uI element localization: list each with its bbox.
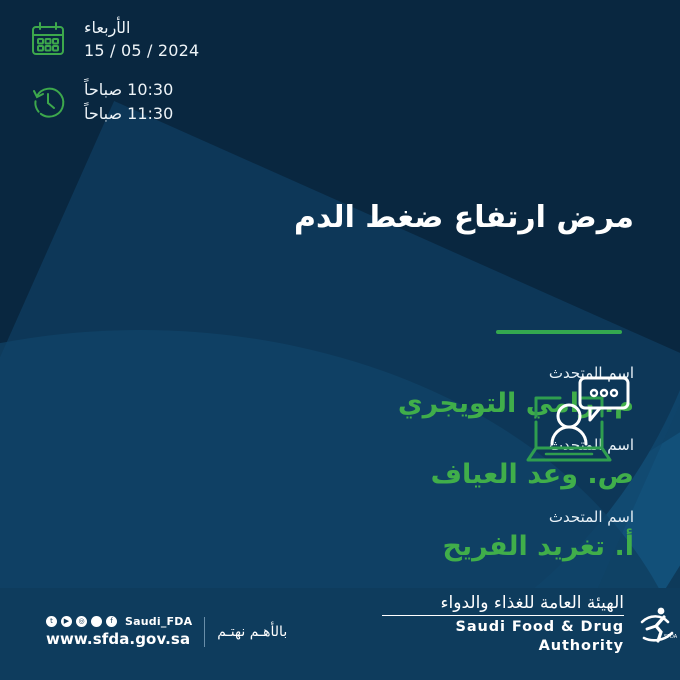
event-time-end: 11:30 صباحاً [84, 102, 173, 125]
event-time-text: 10:30 صباحاً 11:30 صباحاً [84, 78, 173, 124]
sfda-logo-arabic: الهيئة العامة للغذاء والدواء [382, 593, 624, 616]
svg-text:SFDA: SFDA [664, 634, 678, 640]
sfda-logo-text: الهيئة العامة للغذاء والدواء Saudi Food … [382, 593, 624, 656]
event-day-name: الأربعاء [84, 16, 199, 39]
laptop-webinar-icon [516, 372, 638, 476]
event-time-start: 10:30 صباحاً [84, 78, 173, 101]
youtube-icon[interactable]: ▶ [61, 616, 72, 627]
event-date-text: الأربعاء 2024 / 05 / 15 [84, 16, 199, 62]
social-icons-row: t ▶ ◎ f Saudi_FDA [46, 615, 192, 628]
footer-slogan: بالأهـم نهتـم [217, 624, 287, 640]
section-divider [496, 330, 622, 334]
poster-canvas: الأربعاء 2024 / 05 / 15 10:30 صباحاً 11:… [0, 0, 680, 680]
speaker-name: أ. تغريد الفريح [184, 529, 634, 565]
speaker-label: اسم المتحدث [184, 506, 634, 529]
footer-separator [204, 617, 205, 647]
sfda-logo: الهيئة العامة للغذاء والدواء Saudi Food … [382, 593, 680, 656]
page-title: مرض ارتفاع ضغط الدم [34, 200, 634, 235]
snapchat-icon[interactable] [91, 616, 102, 627]
event-date-value: 2024 / 05 / 15 [84, 39, 199, 62]
twitter-icon[interactable]: t [46, 616, 57, 627]
instagram-icon[interactable]: ◎ [76, 616, 87, 627]
social-block: t ▶ ◎ f Saudi_FDA www.sfda.gov.sa [46, 615, 192, 648]
speaker-item: اسم المتحدث أ. تغريد الفريح [184, 506, 634, 566]
clock-icon [26, 80, 70, 124]
event-date-row: الأربعاء 2024 / 05 / 15 [26, 16, 248, 62]
sfda-logo-english: Saudi Food & Drug Authority [382, 618, 624, 656]
event-time-row: 10:30 صباحاً 11:30 صباحاً [26, 78, 248, 124]
event-meta: الأربعاء 2024 / 05 / 15 10:30 صباحاً 11:… [26, 16, 248, 125]
social-handle: Saudi_FDA [125, 615, 192, 628]
calendar-icon [26, 17, 70, 61]
website-url[interactable]: www.sfda.gov.sa [46, 630, 192, 648]
facebook-icon[interactable]: f [106, 616, 117, 627]
sfda-runner-logo-icon: SFDA [634, 602, 680, 648]
footer-contact: t ▶ ◎ f Saudi_FDA www.sfda.gov.sa بالأهـ… [46, 615, 287, 648]
